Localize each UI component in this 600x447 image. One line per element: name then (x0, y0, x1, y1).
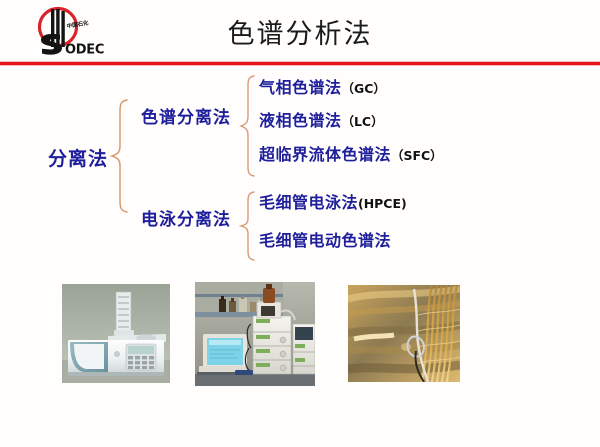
photo-strip (0, 281, 600, 391)
tree-leaf-supercritical-fluid-chromatography-label: 超临界流体色谱法 (259, 145, 391, 164)
tree-leaf-capillary-electrophoresis: 毛细管电泳法(HPCE) (259, 195, 407, 211)
tree-node-chromatographic-separation: 色谱分离法 (141, 110, 231, 127)
tree-node-electrophoretic-separation: 电泳分离法 (141, 212, 231, 229)
brace-electrophoretic (239, 190, 257, 262)
tree-node-root: 分离法 (48, 150, 108, 169)
tree-node-electrophoretic-separation-label: 电泳分离法 (141, 210, 231, 230)
brace-chromatographic (239, 74, 257, 178)
tree-leaf-liquid-chromatography: 液相色谱法（LC） (259, 113, 384, 129)
brace-root (108, 98, 130, 214)
gas-chromatograph-photo (62, 284, 170, 383)
tree-leaf-liquid-chromatography-label: 液相色谱法 (259, 111, 342, 130)
capillary-column-photo (348, 285, 460, 382)
tree-leaf-capillary-electrophoresis-label: 毛细管电泳法 (259, 193, 358, 212)
tree-node-root-label: 分离法 (48, 148, 108, 170)
slide-canvas: ODEC 中国石化 色谱分析法 分离法 色谱分离法 电泳分离法 (0, 0, 600, 447)
tree-node-chromatographic-separation-label: 色谱分离法 (141, 108, 231, 128)
tree-leaf-supercritical-fluid-chromatography: 超临界流体色谱法（SFC） (259, 147, 443, 163)
classification-diagram: 分离法 色谱分离法 电泳分离法 气相色谱法（GC） 液相色谱 (0, 66, 600, 271)
liquid-chromatograph-photo (195, 282, 315, 386)
tree-leaf-liquid-chromatography-abbr: （LC） (342, 114, 384, 129)
tree-leaf-gas-chromatography-abbr: （GC） (342, 81, 386, 96)
tree-leaf-capillary-electrochromatography-label: 毛细管电动色谱法 (259, 231, 391, 250)
tree-leaf-gas-chromatography-label: 气相色谱法 (259, 78, 342, 97)
tree-leaf-capillary-electrophoresis-abbr: (HPCE) (358, 196, 407, 211)
tree-leaf-gas-chromatography: 气相色谱法（GC） (259, 80, 386, 96)
tree-leaf-supercritical-fluid-chromatography-abbr: （SFC） (391, 148, 443, 163)
page-title: 色谱分析法 (0, 12, 600, 51)
tree-leaf-capillary-electrochromatography: 毛细管电动色谱法 (259, 233, 391, 249)
